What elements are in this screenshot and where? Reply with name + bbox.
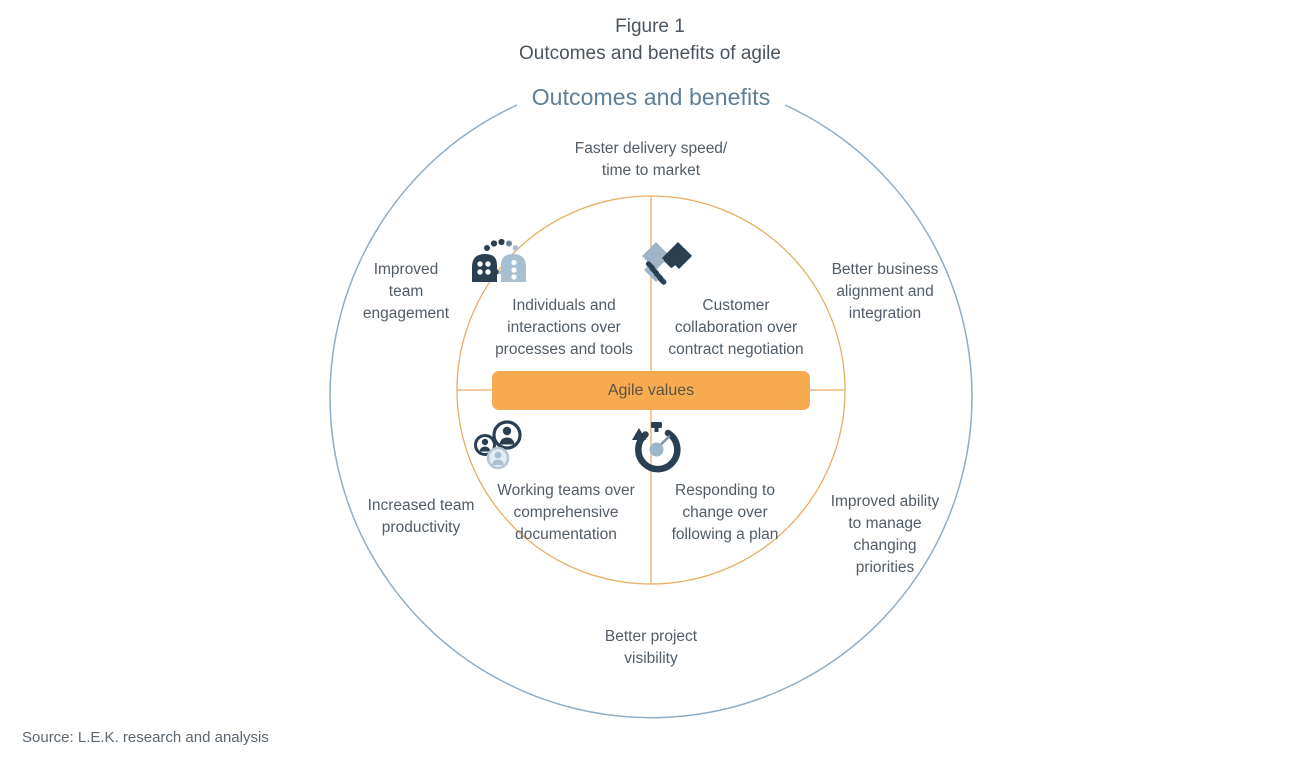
benefit-label-top: Faster delivery speed/ time to market — [521, 138, 781, 182]
value-label-top-left: Individuals and interactions over proces… — [464, 295, 664, 361]
ring-heading: Outcomes and benefits — [451, 84, 851, 111]
stopwatch-icon — [625, 418, 825, 474]
benefit-label-bottom: Better project visibility — [521, 626, 781, 670]
agile-values-pill: Agile values — [492, 371, 810, 410]
diagram-canvas: Outcomes and benefits Faster delivery sp… — [0, 0, 1300, 769]
handshake-icon — [636, 233, 836, 289]
value-quadrant-top-left: Individuals and interactions over proces… — [464, 233, 664, 361]
value-quadrant-bottom-right: Responding to change over following a pl… — [625, 418, 825, 546]
source-note: Source: L.E.K. research and analysis — [22, 729, 269, 746]
value-label-bottom-right: Responding to change over following a pl… — [625, 480, 825, 546]
value-label-top-right: Customer collaboration over contract neg… — [636, 295, 836, 361]
two-heads-icon — [464, 233, 664, 289]
value-quadrant-top-right: Customer collaboration over contract neg… — [636, 233, 836, 361]
